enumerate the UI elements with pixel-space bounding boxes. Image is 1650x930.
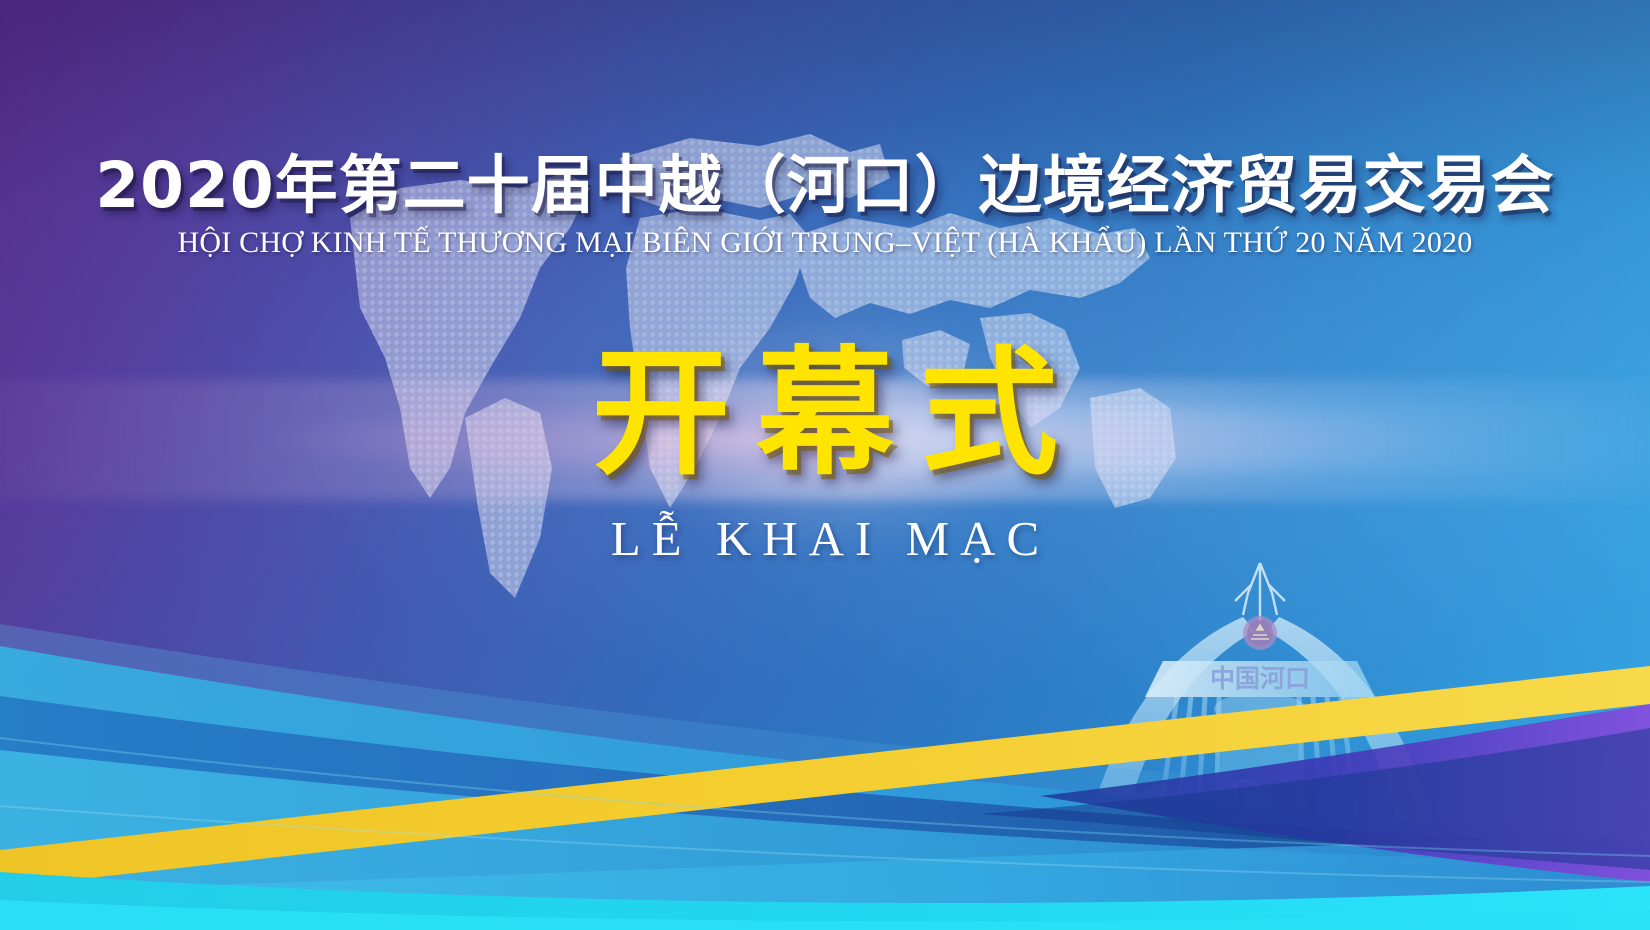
poster-canvas: 中国河口 (0, 0, 1650, 930)
bottom-wave-decoration (0, 600, 1650, 930)
headline-vietnamese: LỄ KHAI MẠC (0, 510, 1650, 567)
page-subtitle-vietnamese: HỘI CHỢ KINH TẾ THƯƠNG MẠI BIÊN GIỚI TRU… (0, 226, 1650, 260)
page-title-chinese: 2020年第二十届中越（河口）边境经济贸易交易会 (0, 135, 1650, 226)
headline-chinese: 开幕式 (0, 338, 1650, 490)
